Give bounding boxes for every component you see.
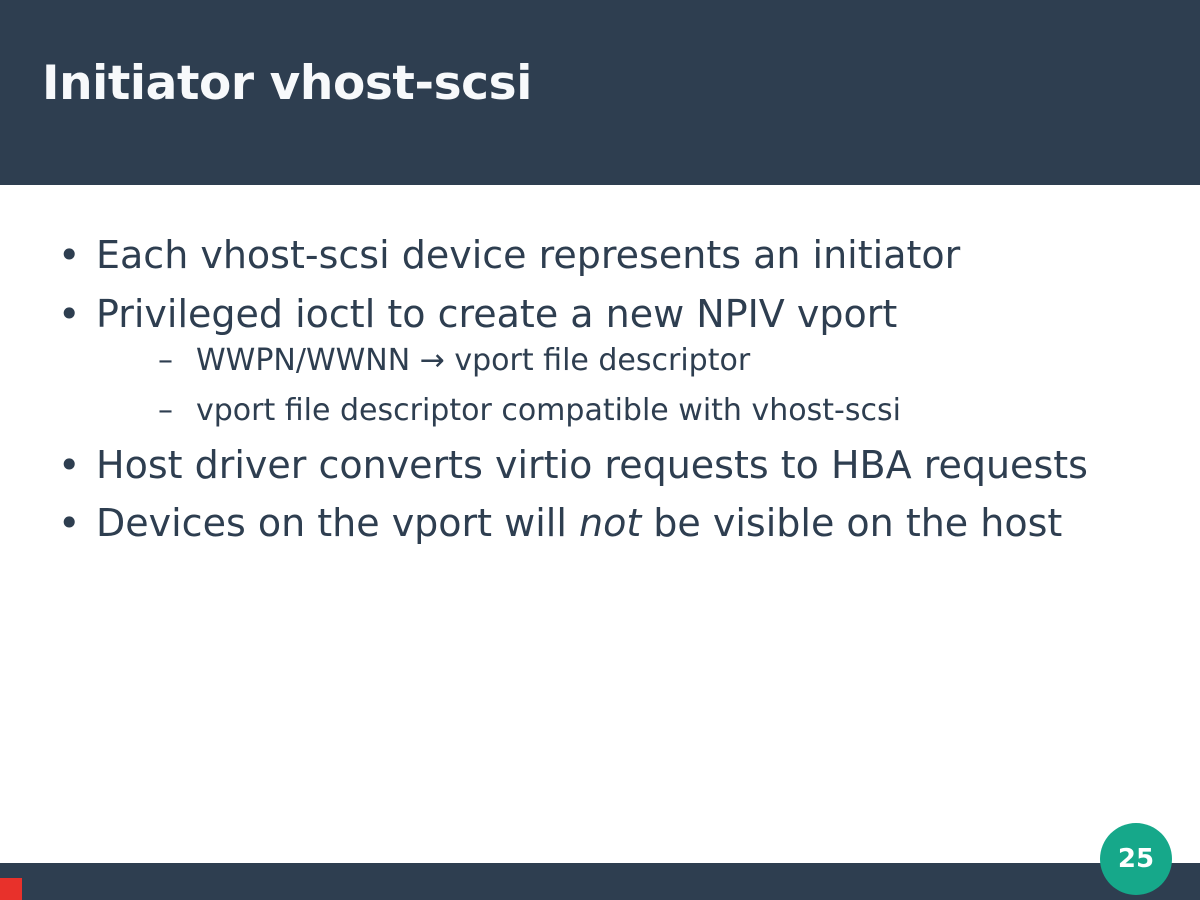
subbullet-text: vport file descriptor compatible with vh… [196, 393, 901, 428]
bullet-text-emphasis: not [579, 501, 641, 545]
list-item: • Devices on the vport will not be visib… [46, 501, 1154, 546]
slide-content: • Each vhost-scsi device represents an i… [0, 185, 1200, 863]
footer-accent-square [0, 878, 22, 900]
list-item: • Host driver converts virtio requests t… [46, 443, 1154, 488]
list-item: – WWPN/WWNN → vport file descriptor [96, 343, 1154, 379]
subbullet-text: WWPN/WWNN → vport file descriptor [196, 343, 750, 378]
bullet-text-pre: Devices on the vport will [96, 501, 579, 545]
list-item: • Privileged ioctl to create a new NPIV … [46, 292, 1154, 429]
list-item: – vport file descriptor compatible with … [96, 393, 1154, 429]
slide-footer-bar [0, 863, 1200, 900]
bullet-marker-icon: • [58, 501, 80, 546]
dash-marker-icon: – [158, 343, 173, 379]
slide: Initiator vhost-scsi • Each vhost-scsi d… [0, 0, 1200, 900]
subbullet-list: – WWPN/WWNN → vport file descriptor – vp… [96, 343, 1154, 429]
bullet-text: Host driver converts virtio requests to … [96, 443, 1088, 487]
dash-marker-icon: – [158, 393, 173, 429]
bullet-marker-icon: • [58, 233, 80, 278]
bullet-text-post: be visible on the host [641, 501, 1062, 545]
bullet-marker-icon: • [58, 292, 80, 337]
page-number-badge: 25 [1100, 823, 1172, 895]
bullet-text: Each vhost-scsi device represents an ini… [96, 233, 960, 277]
bullet-text: Privileged ioctl to create a new NPIV vp… [96, 292, 897, 336]
list-item: • Each vhost-scsi device represents an i… [46, 233, 1154, 278]
page-title: Initiator vhost-scsi [42, 58, 532, 110]
bullet-list: • Each vhost-scsi device represents an i… [46, 233, 1154, 546]
bullet-text: Devices on the vport will not be visible… [96, 501, 1062, 545]
bullet-marker-icon: • [58, 443, 80, 488]
